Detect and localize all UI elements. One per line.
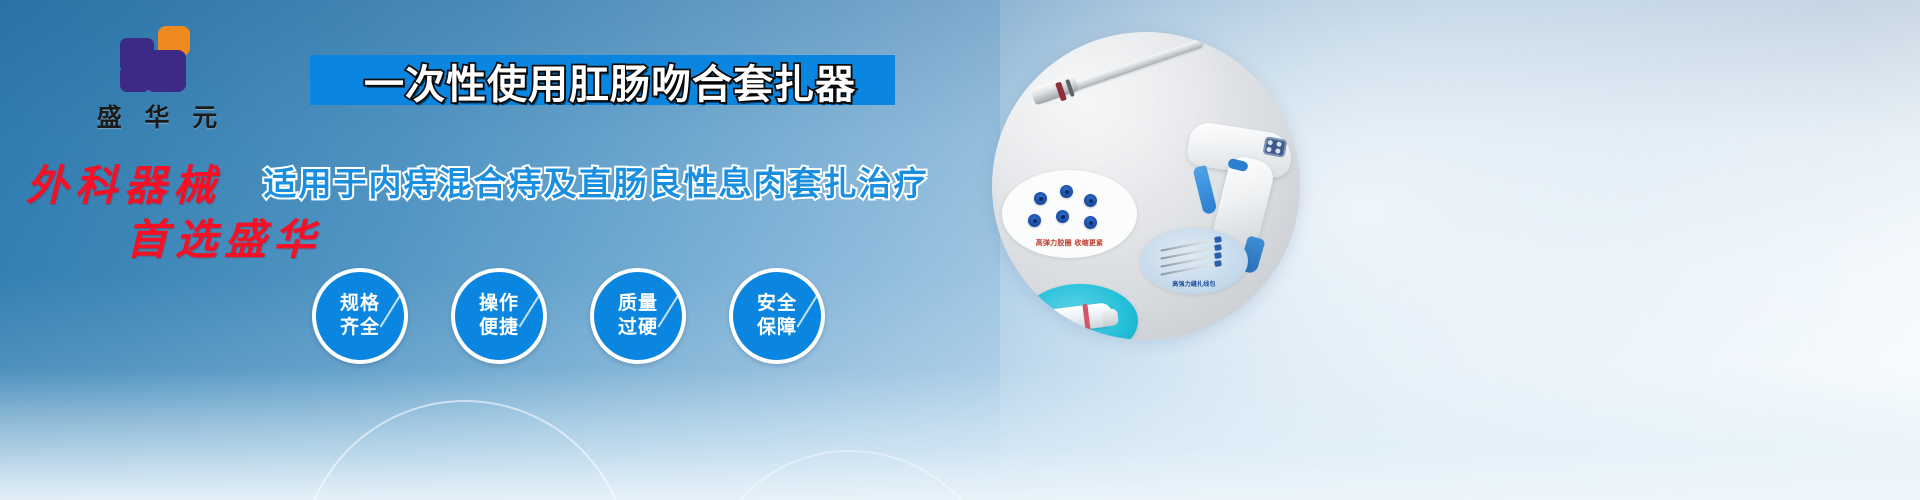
badge-line-1: 质量 xyxy=(618,292,658,316)
page-title: 一次性使用肛肠吻合套扎器 xyxy=(330,52,890,110)
badge-line-1: 操作 xyxy=(479,292,519,316)
needle-set-icon: 高强力缝扎线包 xyxy=(1140,228,1248,294)
feature-badge[interactable]: 操作 便捷 xyxy=(451,268,547,364)
badge-line-2: 保障 xyxy=(757,316,797,340)
feature-badge[interactable]: 质量 过硬 xyxy=(590,268,686,364)
brand-logo[interactable]: 盛 华 元 xyxy=(62,26,252,134)
badge-line-2: 便捷 xyxy=(479,316,519,340)
background-bottom-fade xyxy=(0,370,1920,500)
shenghuayuan-blocks-logo-icon xyxy=(120,26,194,92)
rubber-rings-icon: 高弹力胶圈 收缩更紧 xyxy=(1002,170,1137,258)
rings-caption: 高弹力胶圈 收缩更紧 xyxy=(1002,238,1137,248)
feature-badge[interactable]: 安全 保障 xyxy=(729,268,825,364)
needles-caption: 高强力缝扎线包 xyxy=(1140,279,1248,288)
badge-line-2: 齐全 xyxy=(340,316,380,340)
feature-badge[interactable]: 规格 齐全 xyxy=(312,268,408,364)
feature-badge-list: 规格 齐全 操作 便捷 质量 过硬 安全 保障 xyxy=(312,268,872,388)
badge-line-2: 过硬 xyxy=(618,316,658,340)
page-subtitle: 适用于内痔混合痔及直肠良性息肉套扎治疗 xyxy=(296,158,896,204)
badge-line-1: 安全 xyxy=(757,292,797,316)
brand-name: 盛 华 元 xyxy=(62,98,252,134)
badge-line-1: 规格 xyxy=(340,292,380,316)
product-photo[interactable]: 高弹力胶圈 收缩更紧 高强力缝扎线包 xyxy=(992,32,1300,340)
promo-banner: 盛 华 元 外科器械 首选盛华 一次性使用肛肠吻合套扎器 适用于内痔混合痔及直肠… xyxy=(0,0,1920,500)
